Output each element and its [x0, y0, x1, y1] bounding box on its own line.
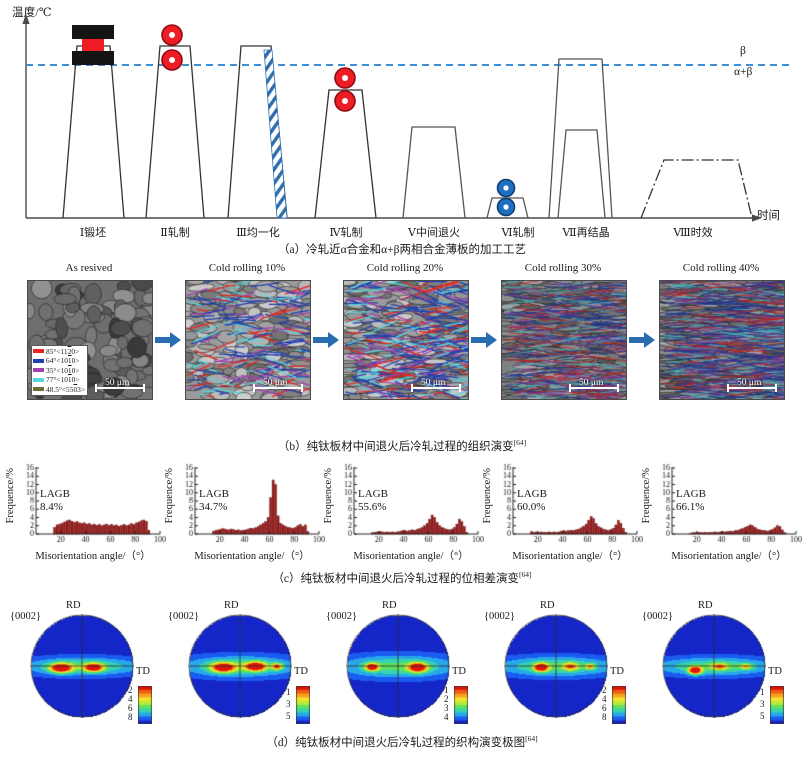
panel-d-caption-text: （d）纯钛板材中间退火后冷轧过程的织构演变极图 — [266, 737, 525, 749]
micrograph-title-3: Cold rolling 30% — [488, 262, 638, 274]
histogram-annotation-3: LAGB60.0% — [517, 488, 547, 513]
panel-d-caption: （d）纯钛板材中间退火后冷轧过程的织构演变极图[64] — [0, 734, 804, 750]
pole-figure-td-1: TD — [294, 666, 308, 677]
legend-item-2: 35°<1010> — [33, 366, 85, 375]
histogram-1: Frequence/% LAGB34.7% Misorientation ang… — [165, 462, 325, 570]
pole-figure-rd-1: RD — [224, 600, 239, 611]
scale-bar-1: 50 μm — [253, 380, 303, 393]
micrograph-title-4: Cold rolling 40% — [646, 262, 796, 274]
legend-swatch-4 — [33, 387, 44, 391]
micrograph-title-2: Cold rolling 20% — [330, 262, 480, 274]
histogram-x-label-0: Misorientation angle/（°） — [20, 548, 166, 563]
pole-figure-scale-0: 2468 — [128, 686, 133, 722]
panel-c-caption: （c）纯钛板材中间退火后冷轧过程的位相差演变[64] — [0, 570, 804, 586]
arrow-icon-2 — [471, 332, 497, 348]
arrow-icon-3 — [629, 332, 655, 348]
pole-figure-4: {0002} RD TD 135 — [640, 600, 790, 720]
rolling-mill-icon-stage-2 — [162, 25, 182, 70]
pole-figure-scale-2: 1234 — [444, 686, 449, 722]
panel-c-caption-ref: [64] — [519, 570, 532, 579]
legend-swatch-2 — [33, 368, 44, 372]
legend-label-4: 48.5°<5503> — [46, 385, 85, 394]
pole-figure-scale-4: 135 — [760, 686, 765, 722]
pole-figure-scale-1: 135 — [286, 686, 291, 722]
pole-figure-2: {0002} RD TD 1234 — [324, 600, 474, 720]
histogram-2: Frequence/% LAGB55.6% Misorientation ang… — [324, 462, 484, 570]
legend-label-1: 64°<1010> — [46, 356, 79, 365]
legend-label-2: 35°<1010> — [46, 366, 79, 375]
aging-dash-dot-curve — [641, 160, 752, 218]
scale-bar-label-0: 50 μm — [105, 378, 129, 388]
panel-d-pole-figure-row: {0002} RD TD 2468 {0002} RD TD 135 {0002… — [0, 600, 804, 759]
panel-c-misorientation-row: Frequence/% LAGB8.4% Misorientation angl… — [0, 462, 804, 584]
histogram-y-label-3: Frequence/% — [482, 468, 493, 523]
panel-b-caption-text: （b）纯钛板材中间退火后冷轧过程的组织演变 — [278, 441, 514, 453]
pole-figure-td-4: TD — [768, 666, 782, 677]
pole-figure-td-2: TD — [452, 666, 466, 677]
micrograph-3: 50 μm — [501, 280, 627, 400]
panel-b-caption: （b）纯钛板材中间退火后冷轧过程的组织演变[64] — [0, 438, 804, 454]
pole-figure-1: {0002} RD TD 135 — [166, 600, 316, 720]
histogram-annotation-0: LAGB8.4% — [40, 488, 70, 513]
scale-bar-2: 50 μm — [411, 380, 461, 393]
legend-item-1: 64°<1010> — [33, 356, 85, 365]
histogram-3: Frequence/% LAGB60.0% Misorientation ang… — [483, 462, 643, 570]
histogram-4: Frequence/% LAGB66.1% Misorientation ang… — [642, 462, 802, 570]
panel-b-microstructure-row: As resived Cold rolling 10% Cold rolling… — [0, 262, 804, 458]
pole-figure-rd-4: RD — [698, 600, 713, 611]
histogram-annotation-4: LAGB66.1% — [676, 488, 706, 513]
micrograph-4: 50 μm — [659, 280, 785, 400]
pole-figure-td-0: TD — [136, 666, 150, 677]
scale-bar-label-3: 50 μm — [579, 378, 603, 388]
forging-press-icon — [72, 25, 114, 65]
micrograph-0: 85°<1120> 64°<1010> 35°<1010> 77°<1010> … — [27, 280, 153, 400]
scale-bar-3: 50 μm — [569, 380, 619, 393]
pole-figure-0: {0002} RD TD 2468 — [8, 600, 158, 720]
histogram-x-label-3: Misorientation angle/（°） — [497, 548, 643, 563]
legend-swatch-0 — [33, 349, 44, 353]
micrograph-title-1: Cold rolling 10% — [172, 262, 322, 274]
micrograph-title-0: As resived — [14, 262, 164, 274]
pole-figure-rd-3: RD — [540, 600, 555, 611]
histogram-y-label-4: Frequence/% — [641, 468, 652, 523]
scale-bar-0: 50 μm — [95, 380, 145, 393]
micrograph-2: 50 μm — [343, 280, 469, 400]
panel-b-caption-ref: [64] — [514, 438, 527, 447]
histogram-y-label-0: Frequence/% — [5, 468, 16, 523]
panel-d-caption-ref: [64] — [525, 734, 538, 743]
arrow-icon-0 — [155, 332, 181, 348]
legend-label-0: 85°<1120> — [46, 347, 79, 356]
scale-bar-label-4: 50 μm — [737, 378, 761, 388]
legend-label-3: 77°<1010> — [46, 375, 79, 384]
legend-swatch-1 — [33, 359, 44, 363]
arrow-icon-1 — [313, 332, 339, 348]
panel-a-caption: （a）冷轧近α合金和α+β两相合金薄板的加工工艺 — [0, 241, 804, 257]
pole-figure-td-3: TD — [610, 666, 624, 677]
pole-figure-rd-2: RD — [382, 600, 397, 611]
histogram-x-label-4: Misorientation angle/（°） — [656, 548, 802, 563]
histogram-x-label-1: Misorientation angle/（°） — [179, 548, 325, 563]
stage-label-VII: Ⅶ再结晶 — [526, 224, 646, 240]
scale-bar-label-2: 50 μm — [421, 378, 445, 388]
process-curve-svg — [0, 0, 804, 230]
stage-label-VIII: Ⅷ时效 — [633, 224, 753, 240]
legend-item-3: 77°<1010> — [33, 375, 85, 384]
legend-item-4: 48.5°<5503> — [33, 385, 85, 394]
histogram-y-label-1: Frequence/% — [164, 468, 175, 523]
panel-a-process-schematic: 温度/℃ 时间 β α+β — [0, 0, 804, 258]
histogram-x-label-2: Misorientation angle/（°） — [338, 548, 484, 563]
boundary-legend: 85°<1120> 64°<1010> 35°<1010> 77°<1010> … — [31, 345, 88, 396]
histogram-y-label-2: Frequence/% — [323, 468, 334, 523]
pole-figure-scale-3: 2468 — [602, 686, 607, 722]
scale-bar-4: 50 μm — [727, 380, 777, 393]
legend-swatch-3 — [33, 378, 44, 382]
pole-figure-3: {0002} RD TD 2468 — [482, 600, 632, 720]
histogram-annotation-1: LAGB34.7% — [199, 488, 229, 513]
histogram-annotation-2: LAGB55.6% — [358, 488, 388, 513]
legend-item-0: 85°<1120> — [33, 347, 85, 356]
histogram-0: Frequence/% LAGB8.4% Misorientation angl… — [6, 462, 166, 570]
quench-hatch-icon — [264, 50, 287, 218]
panel-c-caption-text: （c）纯钛板材中间退火后冷轧过程的位相差演变 — [272, 573, 519, 585]
micrograph-1: 50 μm — [185, 280, 311, 400]
pole-figure-rd-0: RD — [66, 600, 81, 611]
scale-bar-label-1: 50 μm — [263, 378, 287, 388]
